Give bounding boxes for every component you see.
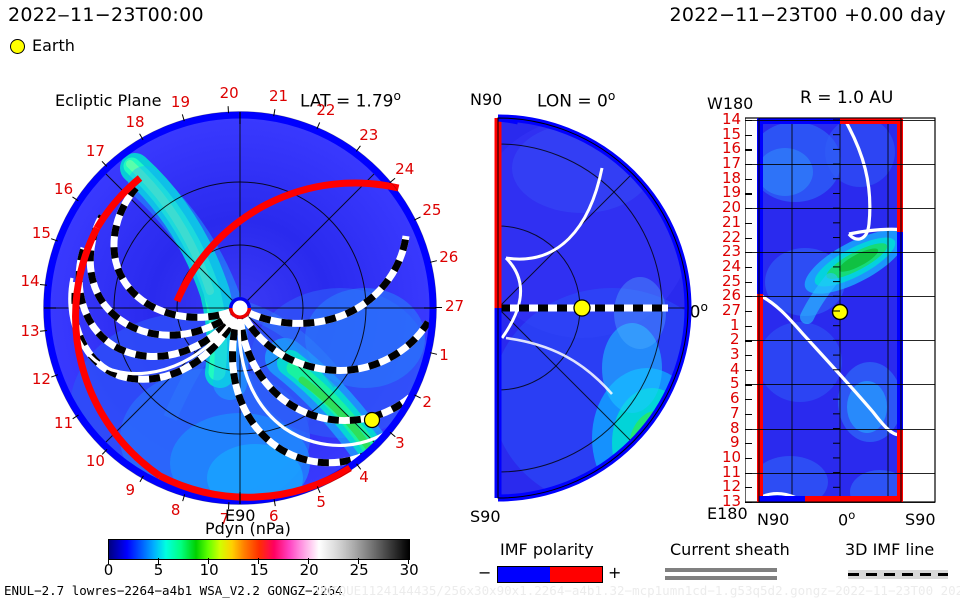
earth-icon: [10, 39, 25, 54]
radial-axis-left-label: N90: [757, 512, 789, 528]
meridional-south-label: S90: [470, 509, 501, 525]
ecliptic-hour-label: 26: [439, 250, 458, 265]
colorbar-gradient: [108, 539, 410, 560]
radial-degree-symbol: o: [848, 508, 855, 522]
status-bar-unique-id: UNIQUE1124144435/256x30x90x1.2264−a4b1.3…: [316, 585, 960, 598]
colorbar-tick-label: 20: [300, 563, 319, 578]
ecliptic-hour-label: 22: [316, 103, 335, 118]
ecliptic-hour-label: 2: [422, 395, 432, 410]
header-datetime-right: 2022−11−23T00 +0.00 day: [670, 6, 946, 25]
ecliptic-hour-tick: [435, 307, 442, 308]
ecliptic-hour-label: 16: [54, 182, 73, 197]
ecliptic-hour-label: 5: [316, 495, 326, 510]
ecliptic-hour-label: 10: [86, 454, 105, 469]
radial-row-tick: [745, 179, 752, 180]
radial-gridline: [745, 296, 935, 297]
meridional-plot: [462, 108, 702, 508]
ecliptic-hour-label: 12: [32, 372, 51, 387]
radial-row-tick: [745, 326, 752, 327]
legend-imf-minus: −: [478, 565, 491, 581]
ecliptic-hour-label: 17: [86, 144, 105, 159]
radial-row-tick: [745, 458, 752, 459]
radial-gridline: [745, 252, 935, 253]
radial-row-tick: [745, 355, 752, 356]
radial-row-tick: [745, 311, 752, 312]
colorbar-tick-label: 0: [104, 563, 114, 578]
header-datetime-left: 2022‒11−23T00:00: [8, 6, 204, 25]
ecliptic-hour-label: 20: [220, 86, 239, 101]
colorbar-label: Pdyn (nPa): [205, 521, 291, 537]
radial-gridline: [745, 208, 935, 209]
radial-axis-right-label: S90: [905, 512, 936, 528]
earth-legend: Earth: [10, 38, 75, 54]
radial-shell-plot: [745, 112, 945, 508]
radial-row-tick: [745, 149, 752, 150]
radial-row-tick: [745, 267, 752, 268]
radial-panel-title: R = 1.0 AU: [800, 90, 893, 107]
ecliptic-hour-label: 11: [54, 416, 73, 431]
radial-row-tick: [745, 443, 752, 444]
radial-row-label: 13: [722, 494, 741, 509]
legend-current-sheath-line-1: [665, 568, 777, 572]
colorbar-tick-label: 10: [200, 563, 219, 578]
ecliptic-hour-label: 3: [395, 436, 405, 451]
radial-gridline: [745, 429, 935, 430]
radial-row-tick: [745, 135, 752, 136]
ecliptic-hour-label: 24: [395, 162, 414, 177]
ecliptic-hour-label: 9: [126, 483, 136, 498]
ecliptic-hour-label: 4: [359, 470, 369, 485]
ecliptic-hour-label: 8: [171, 503, 181, 518]
radial-gridline: [745, 473, 935, 474]
ecliptic-plane-plot: [40, 108, 440, 508]
earth-legend-label: Earth: [32, 38, 75, 54]
radial-center-value: 0: [838, 510, 848, 529]
colorbar-tick-label: 15: [250, 563, 269, 578]
radial-gridline: [745, 502, 935, 503]
ecliptic-hour-label: 19: [171, 95, 190, 110]
ecliptic-hour-label: 18: [126, 115, 145, 130]
ecliptic-hour-label: 13: [20, 324, 39, 339]
legend-3d-imf-line-title: 3D IMF line: [845, 542, 934, 558]
ecliptic-svg: [40, 108, 440, 508]
ecliptic-hour-label: 14: [20, 274, 39, 289]
legend-current-sheath-title: Current sheath: [670, 542, 790, 558]
ecliptic-hour-label: 21: [269, 89, 288, 104]
ecliptic-hour-label: 1: [439, 348, 449, 363]
radial-gridline: [745, 384, 935, 385]
legend-current-sheath-line-2: [665, 576, 777, 580]
status-bar-text: ENUL−2.7 lowres−2264−a4b1 WSA_V2.2 GONGZ…: [4, 585, 343, 598]
legend-imf-plus: +: [608, 565, 621, 581]
radial-gridline: [745, 164, 935, 165]
colorbar-tick-label: 5: [154, 563, 164, 578]
ecliptic-hour-label: 15: [32, 226, 51, 241]
colorbar-tick-label: 25: [350, 563, 369, 578]
radial-axis-center-label: 0o: [838, 510, 855, 528]
radial-row-tick: [745, 193, 752, 194]
radial-row-tick: [745, 370, 752, 371]
radial-svg: [745, 112, 945, 508]
ecliptic-hour-label: 23: [359, 128, 378, 143]
radial-row-tick: [745, 238, 752, 239]
legend-imf-polarity-title: IMF polarity: [500, 542, 594, 558]
lat-degree-symbol: o: [393, 89, 401, 103]
lon-degree-symbol: o: [608, 89, 616, 103]
radial-row-tick: [745, 487, 752, 488]
legend-3d-imf-line-sample: [848, 570, 948, 579]
radial-gridline: [745, 340, 935, 341]
radial-row-tick: [745, 282, 752, 283]
ecliptic-hour-label: 25: [422, 203, 441, 218]
legend-imf-polarity-bar: [497, 566, 603, 583]
meridional-north-label: N90: [470, 92, 502, 108]
meridional-svg: [462, 108, 702, 508]
radial-row-tick: [745, 399, 752, 400]
radial-gridline: [745, 120, 935, 121]
radial-row-tick: [745, 223, 752, 224]
ecliptic-panel-title: Ecliptic Plane: [55, 93, 161, 109]
colorbar-tick-label: 30: [400, 563, 419, 578]
radial-row-tick: [745, 414, 752, 415]
